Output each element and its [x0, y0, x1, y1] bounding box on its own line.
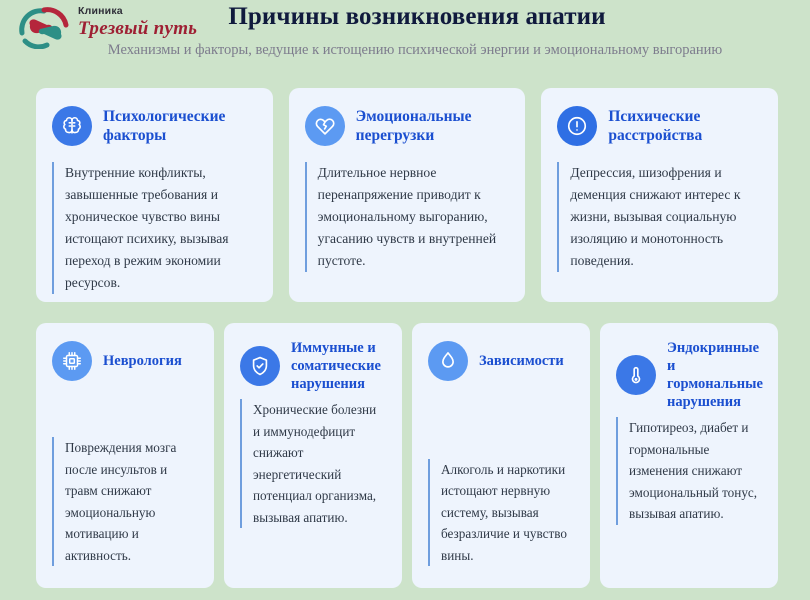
- card-description: Хронические болезни и иммунодефицит сниж…: [240, 399, 386, 528]
- card-immune-somatic-disorders[interactable]: Иммунные и соматические нарушения Хронич…: [224, 323, 402, 588]
- card-header: Психологические факторы: [52, 104, 255, 148]
- brain-icon: [52, 106, 92, 146]
- card-psychological-factors[interactable]: Психологические факторы Внутренние конфл…: [36, 88, 273, 302]
- card-description: Внутренние конфликты, завышенные требова…: [52, 162, 255, 294]
- cpu-chip-icon: [52, 341, 92, 381]
- broken-heart-icon: [305, 106, 345, 146]
- card-description: Длительное нервное перенапряжение привод…: [305, 162, 508, 272]
- alert-circle-icon: [557, 106, 597, 146]
- cards-row-bottom: Неврология Повреждения мозга после инсул…: [36, 323, 778, 588]
- page-header: Клиника Трезвый путь Причины возникновен…: [0, 0, 810, 72]
- card-mental-disorders[interactable]: Психические расстройства Депрессия, шизо…: [541, 88, 778, 302]
- card-header: Иммунные и соматические нарушения: [240, 339, 386, 393]
- card-emotional-overload[interactable]: Эмоциональные перегрузки Длительное нерв…: [289, 88, 526, 302]
- cards-row-top: Психологические факторы Внутренние конфл…: [36, 88, 778, 302]
- card-title: Психологические факторы: [103, 107, 255, 145]
- card-description: Депрессия, шизофрения и деменция снижают…: [557, 162, 760, 272]
- card-endocrine-hormonal-disorders[interactable]: Эндокринные и гормональные нарушения Гип…: [600, 323, 778, 588]
- card-title: Эндокринные и гормональные нарушения: [667, 339, 763, 411]
- card-title: Психические расстройства: [608, 107, 760, 145]
- water-drop-icon: [428, 341, 468, 381]
- card-addictions[interactable]: Зависимости Алкоголь и наркотики истощаю…: [412, 323, 590, 588]
- card-title: Эмоциональные перегрузки: [356, 107, 508, 145]
- card-header: Психические расстройства: [557, 104, 760, 148]
- card-title: Зависимости: [479, 352, 564, 370]
- card-title: Неврология: [103, 352, 182, 370]
- card-neurology[interactable]: Неврология Повреждения мозга после инсул…: [36, 323, 214, 588]
- card-header: Эндокринные и гормональные нарушения: [616, 339, 762, 411]
- card-description: Повреждения мозга после инсультов и трав…: [52, 437, 198, 566]
- card-description: Алкоголь и наркотики истощают нервную си…: [428, 459, 574, 567]
- card-description: Гипотиреоз, диабет и гормональные измене…: [616, 417, 762, 525]
- card-header: Эмоциональные перегрузки: [305, 104, 508, 148]
- thermometer-icon: [616, 355, 656, 395]
- card-title: Иммунные и соматические нарушения: [291, 339, 386, 393]
- card-header: Неврология: [52, 339, 198, 383]
- shield-check-icon: [240, 346, 280, 386]
- page-subtitle: Механизмы и факторы, ведущие к истощению…: [0, 42, 810, 59]
- page-title: Причины возникновения апатии: [0, 3, 810, 31]
- card-header: Зависимости: [428, 339, 574, 383]
